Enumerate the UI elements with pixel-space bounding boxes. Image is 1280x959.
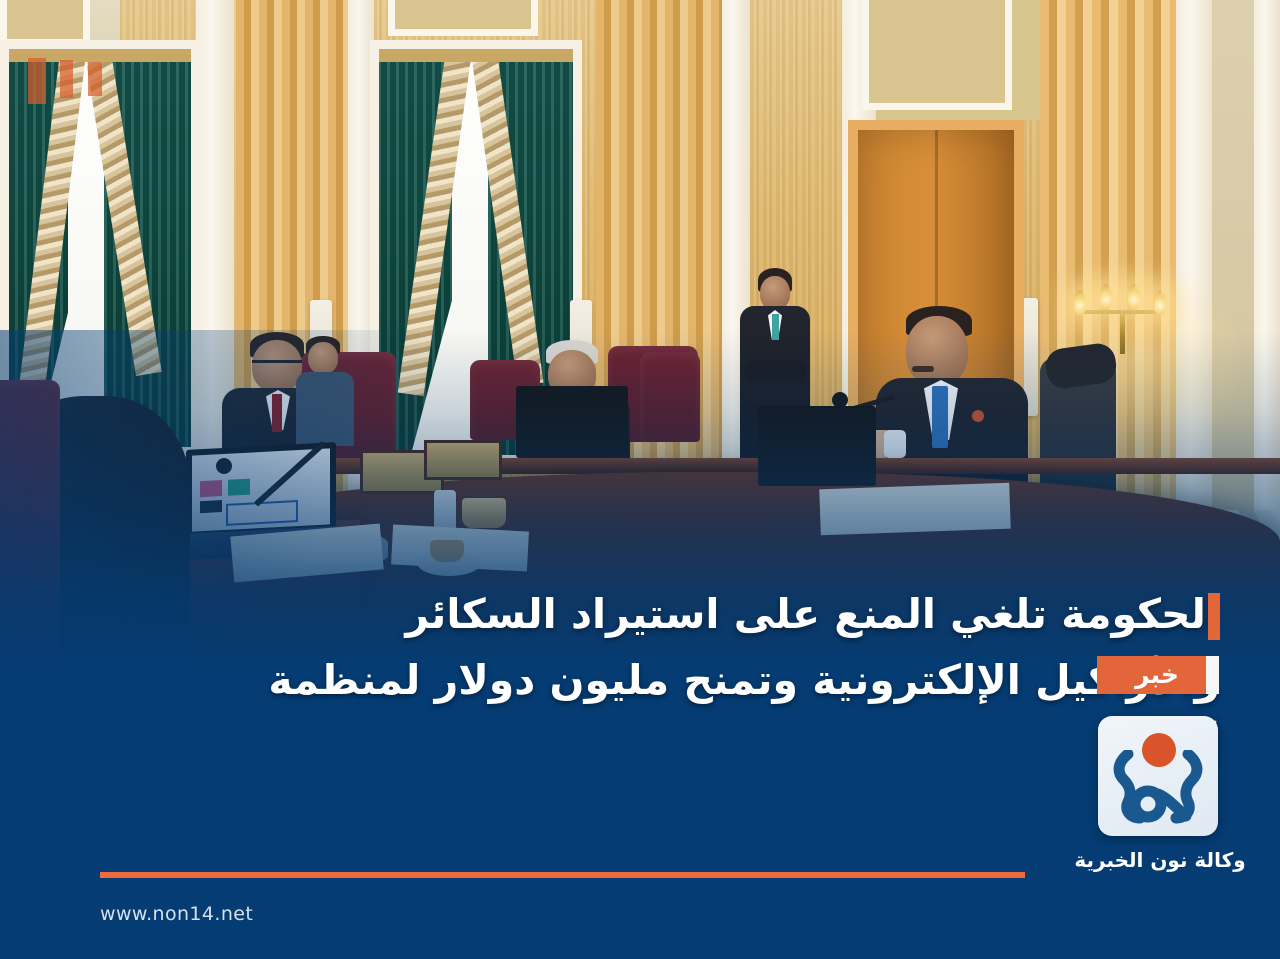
wall-inset-panel-3 xyxy=(862,0,1012,110)
tally-mark-3 xyxy=(88,62,102,96)
news-card: الحكومة تلغي المنع على استيراد السكائر و… xyxy=(0,0,1280,959)
headline-text: الحكومة تلغي المنع على استيراد السكائر و… xyxy=(268,590,1220,771)
agency-name: وكالة نون الخبرية xyxy=(1040,848,1280,872)
news-badge: خبر xyxy=(1097,656,1217,694)
headline: الحكومة تلغي المنع على استيراد السكائر و… xyxy=(220,581,1220,780)
sconce-flame-2 xyxy=(1100,284,1112,310)
sconce-flame-3 xyxy=(1128,284,1140,310)
footer-divider xyxy=(100,872,1025,878)
news-badge-tip xyxy=(1206,656,1219,694)
agency-logo xyxy=(1098,716,1218,836)
website-url: www.non14.net xyxy=(100,903,253,925)
sconce-flame-4 xyxy=(1154,290,1166,316)
news-badge-label: خبر xyxy=(1135,660,1179,689)
logo-noon-mark-icon xyxy=(1108,750,1208,824)
sconce-arm-left xyxy=(1080,310,1122,314)
headline-accent-bar xyxy=(1208,593,1220,640)
tally-mark-1 xyxy=(28,58,46,104)
tally-mark-2 xyxy=(60,60,73,98)
guard-head xyxy=(760,276,790,310)
sconce-flame-1 xyxy=(1074,290,1086,316)
wall-inset-panel-2 xyxy=(388,0,538,36)
